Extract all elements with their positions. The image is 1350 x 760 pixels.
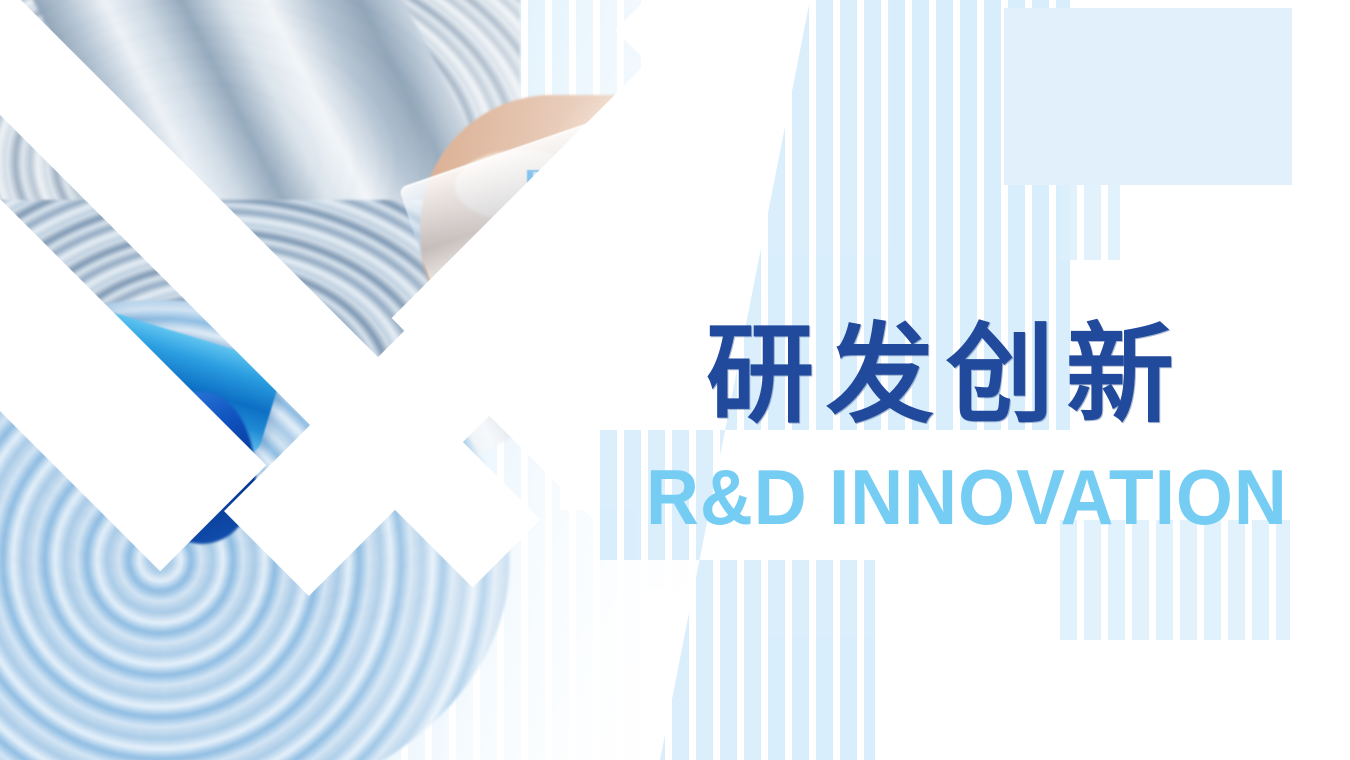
rnd-innovation-banner: 研发创新 R&D INNOVATION [0,0,1350,760]
logo-panel: 恒瑞 [1004,8,1292,185]
page-title-chinese: 研发创新 [706,322,1186,430]
page-subtitle-english: R&D INNOVATION [646,458,1288,536]
